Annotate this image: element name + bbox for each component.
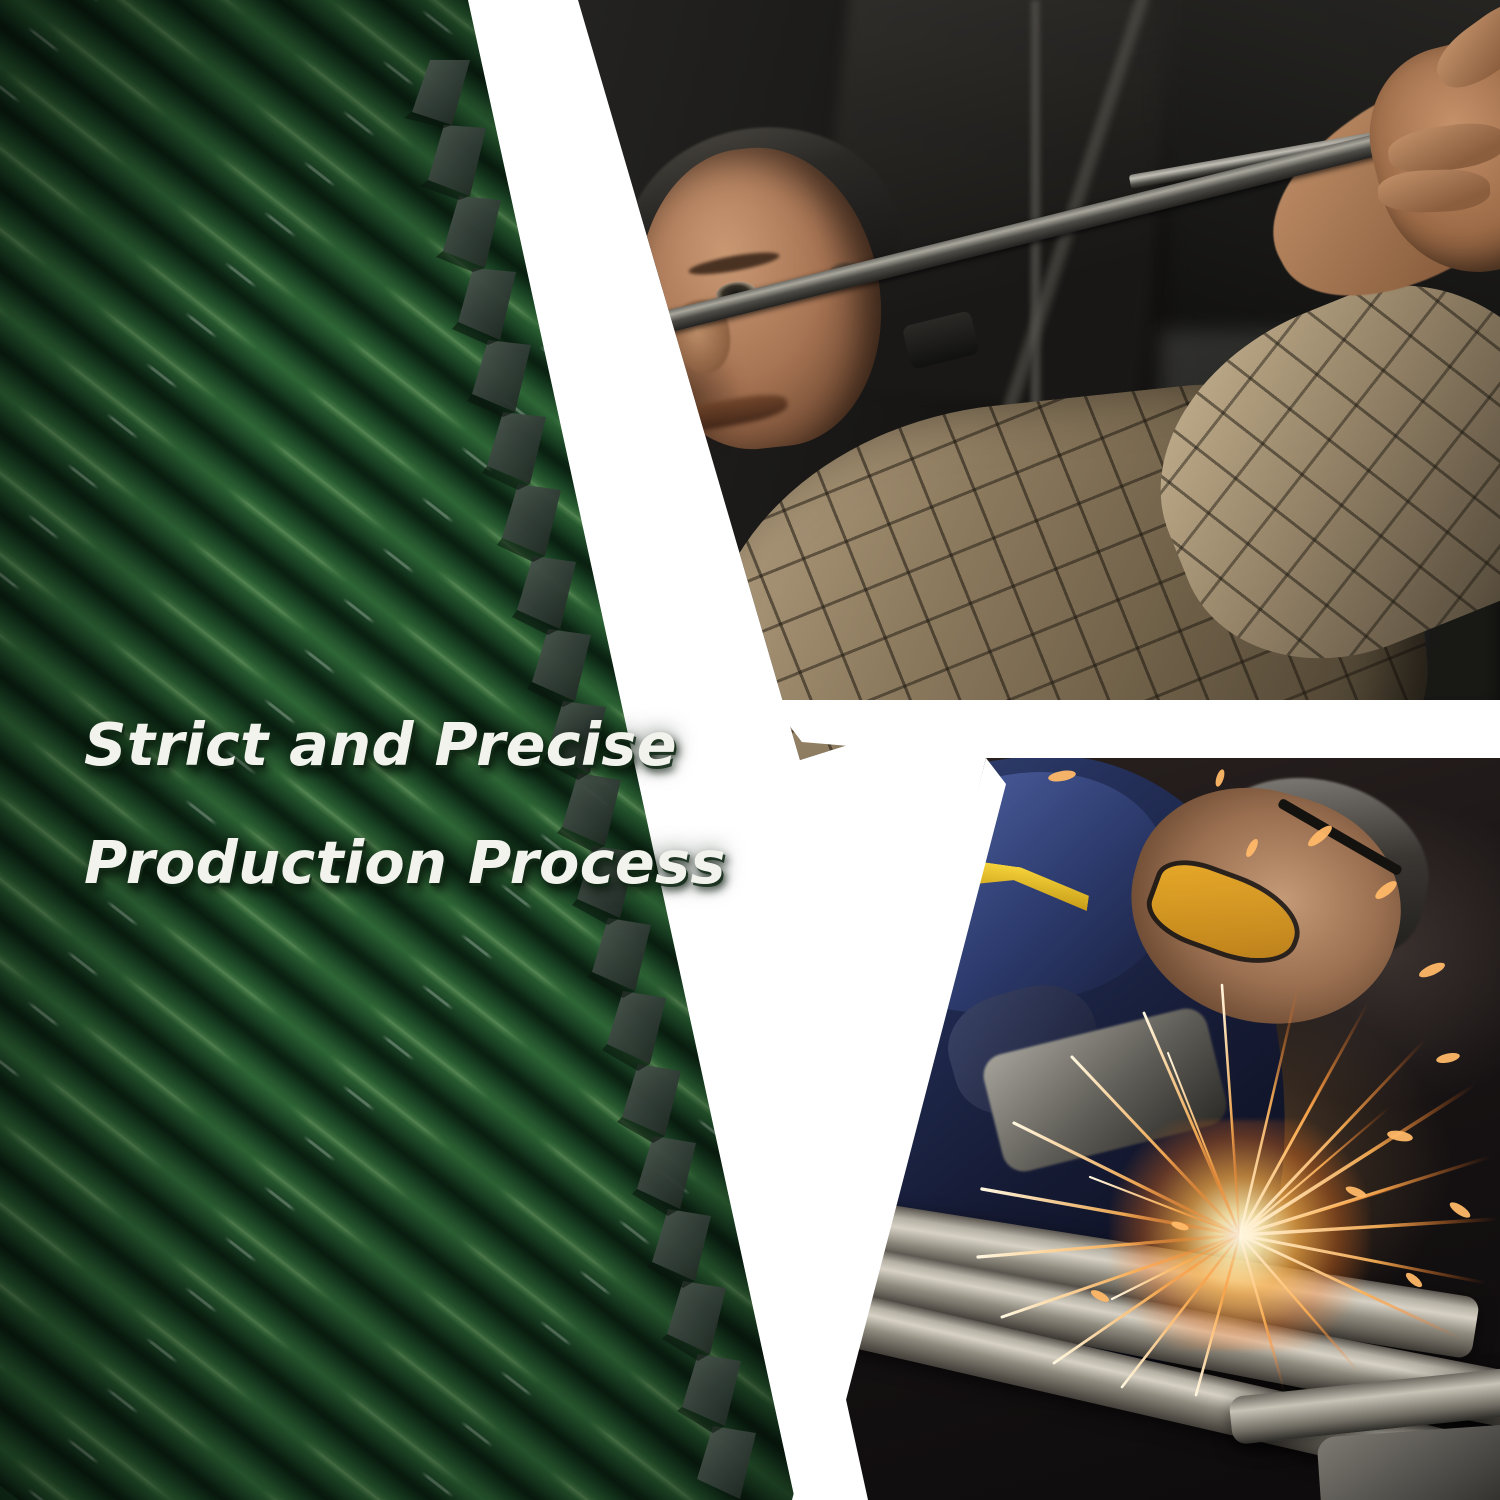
grinding-sparks-photo bbox=[800, 740, 1500, 1500]
spark-burst-core bbox=[1110, 1120, 1370, 1350]
promo-banner: Strict and Precise Production Process bbox=[0, 0, 1500, 1500]
worker-bar-photo bbox=[470, 0, 1500, 760]
